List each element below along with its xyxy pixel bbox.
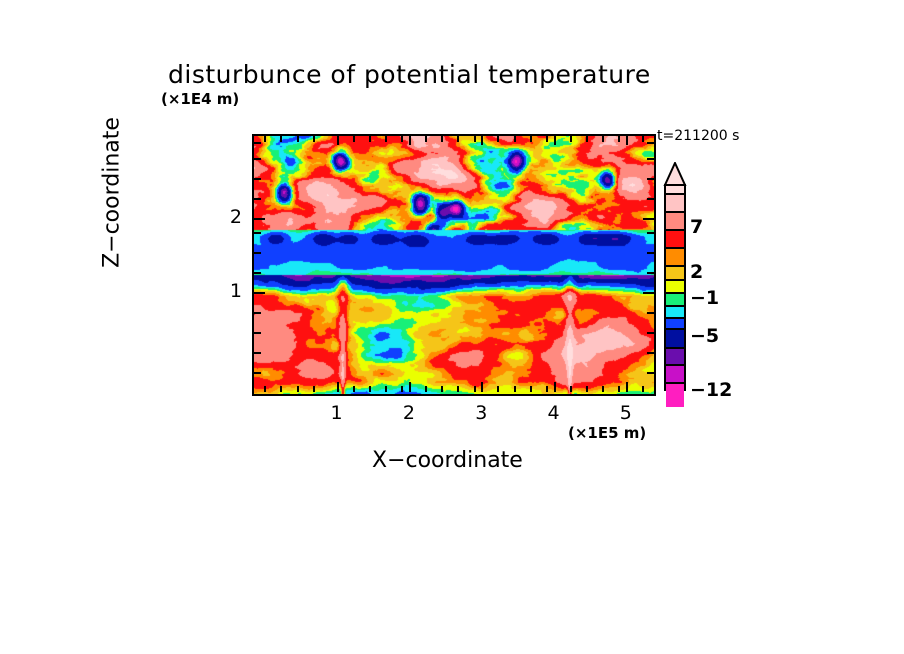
- y-major-tick-0: [254, 292, 265, 294]
- x-minor-tick-7: [401, 386, 403, 392]
- x-minor-tick-top-13: [514, 136, 516, 142]
- x-minor-tick-14: [530, 386, 532, 392]
- x-minor-tick-18: [602, 386, 604, 392]
- colorbar-cell-3: [666, 231, 684, 249]
- colorbar-tick-label-2: −1: [690, 287, 719, 309]
- colorbar-cell-6: [666, 281, 684, 294]
- x-minor-tick-top-14: [530, 136, 532, 142]
- colorbar-cell-5: [666, 267, 684, 281]
- x-axis-label: X−coordinate: [372, 448, 523, 473]
- x-major-tick-top-4: [626, 136, 628, 145]
- colorbar-cell-8: [666, 307, 684, 319]
- x-minor-tick-top-10: [457, 136, 459, 142]
- x-minor-tick-top-19: [618, 136, 620, 142]
- x-minor-tick-top-6: [385, 136, 387, 142]
- y-minor-tick-right-9: [647, 158, 654, 160]
- colorbar-tick-label-1: 2: [690, 261, 703, 283]
- y-axis-label: Z−coordinate: [100, 73, 125, 313]
- x-major-tick-1: [409, 382, 411, 392]
- y-minor-tick-0: [254, 372, 261, 374]
- colorbar-tick-label-4: −12: [690, 379, 732, 401]
- x-major-tick-4: [626, 382, 628, 392]
- x-minor-tick-19: [618, 386, 620, 392]
- x-major-tick-top-1: [409, 136, 411, 145]
- y-minor-tick-right-0: [647, 372, 654, 374]
- y-minor-tick-8: [254, 178, 261, 180]
- colorbar: [664, 184, 686, 391]
- x-minor-tick-top-9: [441, 136, 443, 142]
- x-minor-tick-top-0: [264, 136, 266, 142]
- x-minor-tick-top-7: [401, 136, 403, 142]
- x-major-tick-top-2: [481, 136, 483, 145]
- x-major-tick-0: [337, 382, 339, 392]
- y-minor-tick-right-1: [647, 352, 654, 354]
- x-minor-tick-top-5: [369, 136, 371, 142]
- x-minor-tick-1: [280, 386, 282, 392]
- x-major-tick-top-3: [554, 136, 556, 145]
- y-major-tick-1: [254, 218, 265, 220]
- x-minor-tick-top-4: [353, 136, 355, 142]
- x-minor-tick-20: [642, 386, 644, 392]
- colorbar-cell-1: [666, 195, 684, 213]
- x-axis-unit-label: (×1E5 m): [568, 424, 646, 442]
- colorbar-cell-13: [666, 384, 684, 407]
- colorbar-arrow-icon: [663, 162, 687, 186]
- colorbar-cell-7: [666, 294, 684, 307]
- x-minor-tick-top-2: [297, 136, 299, 142]
- y-minor-tick-right-8: [647, 178, 654, 180]
- x-minor-tick-top-18: [602, 136, 604, 142]
- x-minor-tick-top-16: [570, 136, 572, 142]
- x-tick-label-0: 1: [317, 402, 357, 424]
- y-minor-tick-right-2: [647, 332, 654, 334]
- y-minor-tick-6: [254, 232, 261, 234]
- colorbar-cell-4: [666, 249, 684, 267]
- x-minor-tick-top-11: [474, 136, 476, 142]
- x-minor-tick-10: [457, 386, 459, 392]
- time-stamp-label: t=211200 s: [657, 128, 739, 144]
- colorbar-cell-11: [666, 349, 684, 366]
- page-title: disturbunce of potential temperature: [168, 60, 768, 89]
- x-minor-tick-top-20: [642, 136, 644, 142]
- x-tick-label-1: 2: [389, 402, 429, 424]
- y-minor-tick-7: [254, 198, 261, 200]
- colorbar-cell-10: [666, 330, 684, 349]
- x-minor-tick-top-3: [313, 136, 315, 142]
- x-minor-tick-top-12: [497, 136, 499, 142]
- x-major-tick-2: [481, 382, 483, 392]
- colorbar-cell-0: [666, 186, 684, 195]
- x-minor-tick-16: [570, 386, 572, 392]
- heatmap-canvas: [254, 136, 654, 394]
- x-minor-tick-2: [297, 386, 299, 392]
- x-minor-tick-top-17: [586, 136, 588, 142]
- x-minor-tick-5: [369, 386, 371, 392]
- y-tick-label-0: 1: [202, 280, 242, 302]
- y-minor-tick-right-3: [647, 312, 654, 314]
- x-minor-tick-4: [353, 386, 355, 392]
- z-axis-unit-label: (×1E4 m): [161, 90, 239, 108]
- y-major-tick-right-0: [643, 292, 654, 294]
- x-minor-tick-top-15: [546, 136, 548, 142]
- x-minor-tick-12: [497, 386, 499, 392]
- x-minor-tick-6: [385, 386, 387, 392]
- y-minor-tick-10: [254, 142, 261, 144]
- x-major-tick-top-0: [337, 136, 339, 145]
- y-minor-tick-4: [254, 272, 261, 274]
- y-minor-tick-3: [254, 312, 261, 314]
- y-minor-tick-right-5: [647, 252, 654, 254]
- colorbar-cell-12: [666, 366, 684, 384]
- contour-plot-area: [252, 134, 656, 396]
- y-major-tick-right-1: [643, 218, 654, 220]
- x-minor-tick-top-1: [280, 136, 282, 142]
- y-minor-tick-2: [254, 332, 261, 334]
- y-minor-tick-right-10: [647, 142, 654, 144]
- colorbar-cell-9: [666, 319, 684, 330]
- x-minor-tick-3: [313, 386, 315, 392]
- x-minor-tick-top-8: [425, 136, 427, 142]
- y-minor-tick-right-7: [647, 198, 654, 200]
- x-minor-tick-17: [586, 386, 588, 392]
- y-minor-tick-5: [254, 252, 261, 254]
- x-minor-tick-11: [474, 386, 476, 392]
- y-minor-tick-right-4: [647, 272, 654, 274]
- colorbar-tick-label-0: 7: [690, 216, 703, 238]
- y-minor-tick-9: [254, 158, 261, 160]
- x-minor-tick-8: [425, 386, 427, 392]
- y-minor-tick-right-6: [647, 232, 654, 234]
- x-minor-tick-15: [546, 386, 548, 392]
- x-tick-label-2: 3: [461, 402, 501, 424]
- x-minor-tick-0: [264, 386, 266, 392]
- x-tick-label-3: 4: [534, 402, 574, 424]
- colorbar-cell-2: [666, 213, 684, 231]
- y-minor-tick-1: [254, 352, 261, 354]
- x-minor-tick-13: [514, 386, 516, 392]
- y-tick-label-1: 2: [202, 206, 242, 228]
- colorbar-tick-label-3: −5: [690, 325, 719, 347]
- x-major-tick-3: [554, 382, 556, 392]
- x-tick-label-4: 5: [606, 402, 646, 424]
- x-minor-tick-9: [441, 386, 443, 392]
